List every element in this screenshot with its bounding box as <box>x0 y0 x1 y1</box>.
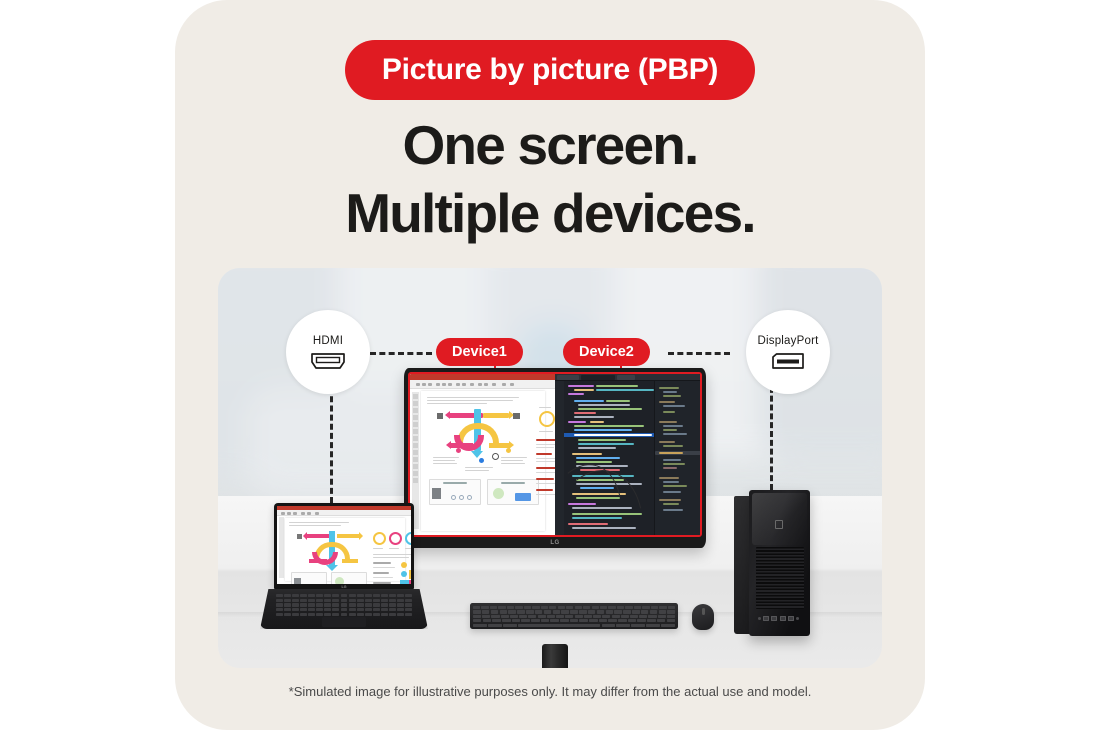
laptop-lid: LG <box>274 503 414 589</box>
footnote: *Simulated image for illustrative purpos… <box>175 684 925 699</box>
monitor-chin: LG <box>404 537 706 548</box>
monitor-stand-neck <box>542 644 568 668</box>
laptop-screen <box>277 506 411 584</box>
laptop-trackpad <box>322 617 366 627</box>
tower-vent-grille <box>756 547 804 609</box>
mouse-wheel-icon <box>702 608 705 615</box>
hdmi-port-icon <box>309 353 347 369</box>
monitor-brand-logo: LG <box>550 540 559 546</box>
tower-front-ports[interactable] <box>758 615 802 622</box>
poster-stage: Picture by picture (PBP) One screen. Mul… <box>0 0 1100 730</box>
displayport-badge: DisplayPort <box>746 310 830 394</box>
device1-pill: Device1 <box>436 338 523 366</box>
device2-pill: Device2 <box>563 338 650 366</box>
headline-line-2: Multiple devices. <box>175 186 925 241</box>
power-button-icon[interactable] <box>775 520 783 529</box>
tower-gloss-highlight <box>752 493 807 545</box>
desktop-pc-tower <box>734 490 810 638</box>
hdmi-to-device1-line <box>370 352 432 355</box>
displayport-port-icon <box>769 353 807 369</box>
hdmi-badge-label: HDMI <box>313 335 343 347</box>
laptop-brand-logo: LG <box>342 585 347 589</box>
laptop: LG <box>260 503 428 633</box>
device2-label: Device2 <box>579 344 634 360</box>
headline-line-1: One screen. <box>175 118 925 173</box>
laptop-chin: LG <box>274 584 414 589</box>
device2-to-displayport-line <box>668 352 730 355</box>
displayport-to-tower-line <box>770 378 773 490</box>
displayport-badge-label: DisplayPort <box>758 335 819 347</box>
mouse[interactable] <box>692 604 714 630</box>
laptop-keyboard <box>276 594 412 616</box>
keyboard[interactable] <box>470 603 678 629</box>
hdmi-badge: HDMI <box>286 310 370 394</box>
pbp-badge-label: Picture by picture (PBP) <box>382 53 718 87</box>
screen-half-left-document <box>410 374 555 535</box>
hdmi-to-laptop-line <box>330 378 333 503</box>
page-title: One screen. Multiple devices. <box>175 118 925 241</box>
pbp-badge: Picture by picture (PBP) <box>345 40 755 100</box>
product-photo: LG <box>218 268 882 668</box>
device1-label: Device1 <box>452 344 507 360</box>
